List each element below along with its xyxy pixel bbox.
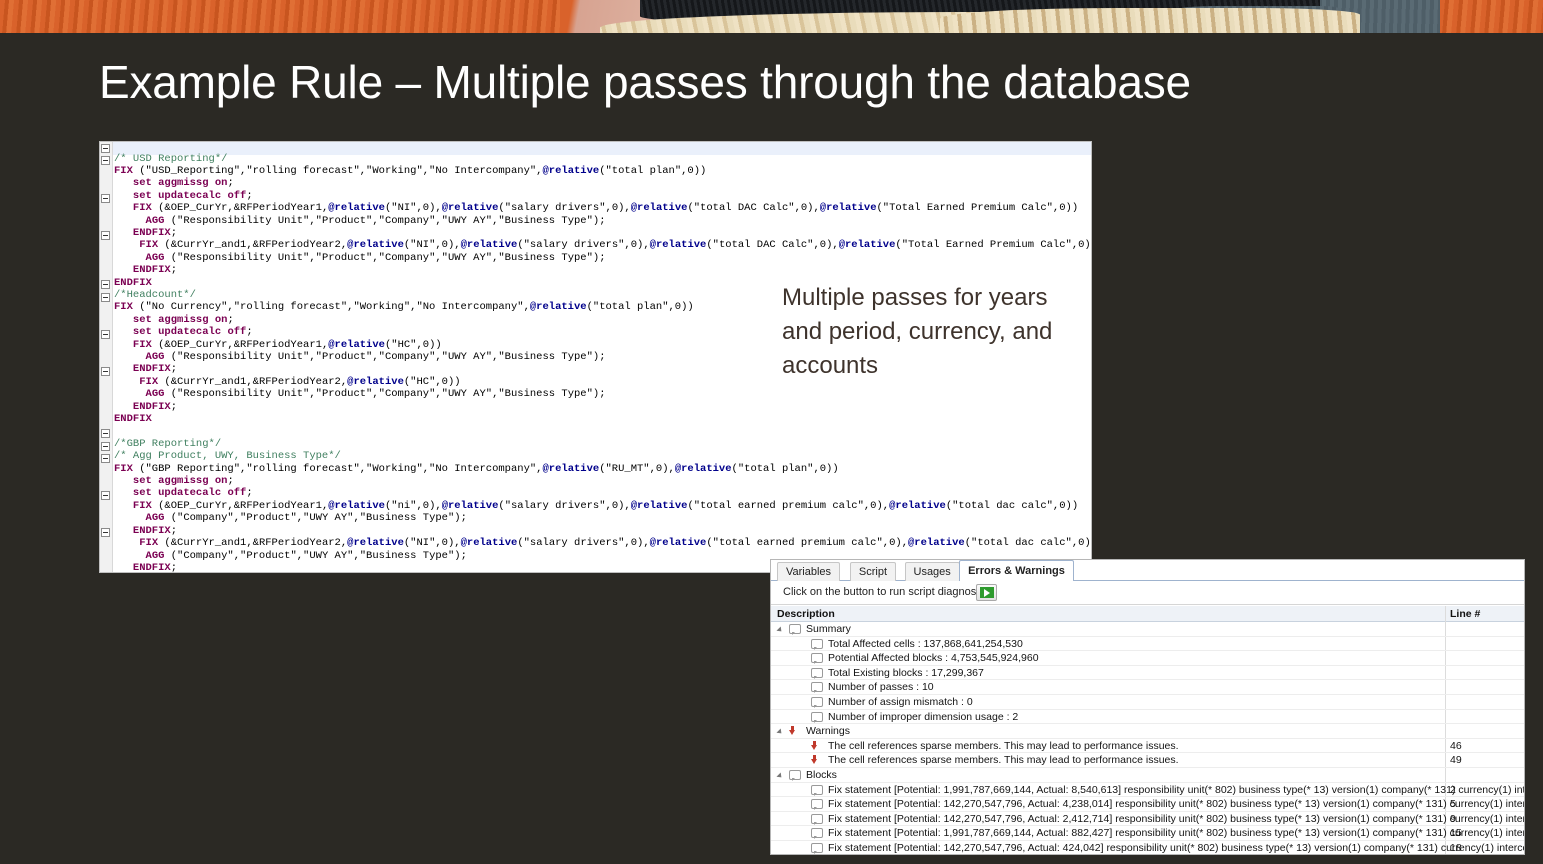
code-fold-toggle[interactable] bbox=[101, 194, 110, 203]
warning-icon bbox=[811, 741, 818, 750]
table-row[interactable]: Number of passes : 10 bbox=[771, 680, 1524, 695]
table-row[interactable]: Total Affected cells : 137,868,641,254,5… bbox=[771, 637, 1524, 652]
column-header-line-number: Line # bbox=[1450, 608, 1480, 620]
row-description: Fix statement [Potential: 1,991,787,669,… bbox=[828, 784, 1524, 796]
code-fold-toggle[interactable] bbox=[101, 528, 110, 537]
note-icon bbox=[811, 785, 823, 795]
row-line-number: 18 bbox=[1450, 842, 1462, 854]
code-fold-toggle[interactable] bbox=[101, 293, 110, 302]
row-description: Warnings bbox=[806, 725, 850, 737]
tab-usages[interactable]: Usages bbox=[905, 562, 960, 581]
table-row[interactable]: Blocks bbox=[771, 768, 1524, 783]
table-row[interactable]: Number of improper dimension usage : 2 bbox=[771, 710, 1524, 725]
results-table-header: Description Line # bbox=[771, 606, 1524, 622]
table-row[interactable]: Potential Affected blocks : 4,753,545,92… bbox=[771, 651, 1524, 666]
band-cream-2 bbox=[940, 8, 1360, 33]
row-description: The cell references sparse members. This… bbox=[828, 740, 1179, 752]
table-row[interactable]: Fix statement [Potential: 142,270,547,79… bbox=[771, 797, 1524, 812]
row-description: Fix statement [Potential: 142,270,547,79… bbox=[828, 842, 1524, 854]
code-fold-toggle[interactable] bbox=[101, 144, 110, 153]
warning-icon bbox=[789, 726, 796, 735]
note-icon bbox=[811, 799, 823, 809]
code-fold-toggle[interactable] bbox=[101, 429, 110, 438]
row-line-number: 5 bbox=[1450, 798, 1456, 810]
code-fold-toggle[interactable] bbox=[101, 330, 110, 339]
diagnostics-tabstrip[interactable]: VariablesScriptUsagesErrors & Warnings bbox=[771, 560, 1524, 581]
code-fold-toggle[interactable] bbox=[101, 454, 110, 463]
note-icon bbox=[789, 624, 801, 634]
run-play-icon bbox=[980, 587, 994, 598]
note-icon bbox=[789, 770, 801, 780]
tab-variables[interactable]: Variables bbox=[777, 562, 840, 581]
table-row[interactable]: Fix statement [Potential: 142,270,547,79… bbox=[771, 812, 1524, 827]
note-icon bbox=[811, 843, 823, 853]
decorative-header-band bbox=[0, 0, 1543, 33]
expand-collapse-triangle-icon[interactable] bbox=[776, 772, 783, 779]
row-line-number: 49 bbox=[1450, 754, 1462, 766]
row-description: The cell references sparse members. This… bbox=[828, 754, 1179, 766]
note-icon bbox=[811, 697, 823, 707]
note-icon bbox=[811, 712, 823, 722]
column-header-description: Description bbox=[777, 608, 835, 620]
table-row[interactable]: Fix statement [Potential: 1,991,787,669,… bbox=[771, 783, 1524, 798]
page-title: Example Rule – Multiple passes through t… bbox=[99, 55, 1191, 109]
code-fold-toggle[interactable] bbox=[101, 442, 110, 451]
row-line-number: 15 bbox=[1450, 827, 1462, 839]
code-fold-toggle[interactable] bbox=[101, 280, 110, 289]
table-row[interactable]: The cell references sparse members. This… bbox=[771, 753, 1524, 768]
code-fold-toggle[interactable] bbox=[101, 156, 110, 165]
run-diagnostics-button[interactable] bbox=[976, 584, 997, 601]
expand-collapse-triangle-icon[interactable] bbox=[776, 729, 783, 736]
table-row[interactable]: The cell references sparse members. This… bbox=[771, 739, 1524, 754]
row-description: Fix statement [Potential: 142,270,547,79… bbox=[828, 798, 1524, 810]
row-line-number: 9 bbox=[1450, 813, 1456, 825]
table-row[interactable]: Warnings bbox=[771, 724, 1524, 739]
row-description: Summary bbox=[806, 623, 851, 635]
diagnostics-toolbar: Click on the button to run script diagno… bbox=[771, 582, 1524, 605]
code-fold-toggle[interactable] bbox=[101, 491, 110, 500]
row-description: Fix statement [Potential: 142,270,547,79… bbox=[828, 813, 1524, 825]
table-row[interactable]: Summary bbox=[771, 622, 1524, 637]
note-icon bbox=[811, 668, 823, 678]
row-line-number: 46 bbox=[1450, 740, 1462, 752]
code-folding-gutter[interactable] bbox=[100, 142, 113, 572]
code-fold-toggle[interactable] bbox=[101, 231, 110, 240]
warning-icon bbox=[811, 755, 818, 764]
row-description: Total Affected cells : 137,868,641,254,5… bbox=[828, 638, 1023, 650]
note-icon bbox=[811, 814, 823, 824]
row-description: Number of passes : 10 bbox=[828, 681, 934, 693]
row-description: Potential Affected blocks : 4,753,545,92… bbox=[828, 652, 1039, 664]
row-description: Number of improper dimension usage : 2 bbox=[828, 711, 1018, 723]
table-row[interactable]: Fix statement [Potential: 142,270,547,79… bbox=[771, 841, 1524, 855]
row-description: Fix statement [Potential: 1,991,787,669,… bbox=[828, 827, 1524, 839]
band-orange-right bbox=[1440, 0, 1543, 33]
results-table-body[interactable]: SummaryTotal Affected cells : 137,868,64… bbox=[771, 622, 1524, 855]
note-icon bbox=[811, 653, 823, 663]
table-row[interactable]: Total Existing blocks : 17,299,367 bbox=[771, 666, 1524, 681]
expand-collapse-triangle-icon[interactable] bbox=[776, 626, 783, 633]
errors-and-warnings-panel[interactable]: VariablesScriptUsagesErrors & Warnings C… bbox=[770, 559, 1525, 855]
tab-errors-warnings[interactable]: Errors & Warnings bbox=[959, 560, 1074, 581]
tab-script[interactable]: Script bbox=[850, 562, 896, 581]
table-row[interactable]: Number of assign mismatch : 0 bbox=[771, 695, 1524, 710]
callout-multiple-passes: Multiple passes for years and period, cu… bbox=[782, 281, 1092, 383]
code-fold-toggle[interactable] bbox=[101, 367, 110, 376]
note-icon bbox=[811, 639, 823, 649]
table-row[interactable]: Fix statement [Potential: 1,991,787,669,… bbox=[771, 826, 1524, 841]
row-description: Number of assign mismatch : 0 bbox=[828, 696, 973, 708]
note-icon bbox=[811, 682, 823, 692]
row-description: Blocks bbox=[806, 769, 837, 781]
band-orange-left bbox=[0, 0, 600, 33]
note-icon bbox=[811, 828, 823, 838]
run-diagnostics-hint: Click on the button to run script diagno… bbox=[783, 586, 993, 598]
row-description: Total Existing blocks : 17,299,367 bbox=[828, 667, 984, 679]
row-line-number: 2 bbox=[1450, 784, 1456, 796]
